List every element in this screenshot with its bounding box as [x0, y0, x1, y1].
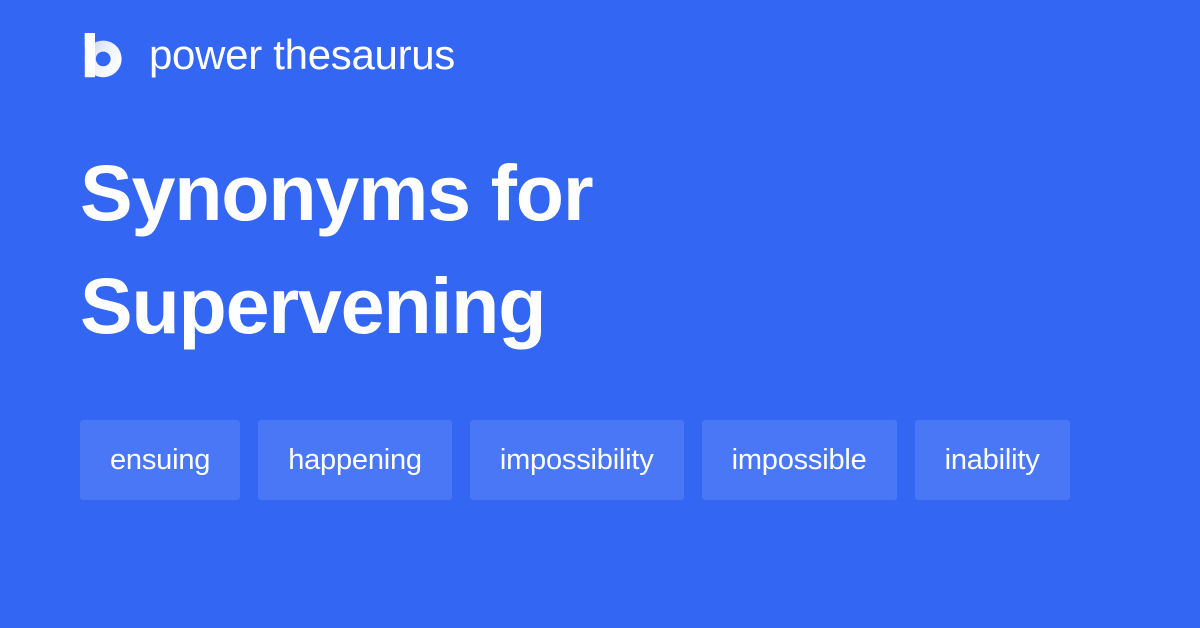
synonym-chip[interactable]: happening	[258, 420, 452, 500]
headline-line-2: Supervening	[80, 249, 1120, 362]
synonym-chip[interactable]: impossibility	[470, 420, 684, 500]
brand-name: power thesaurus	[149, 32, 455, 78]
brand-header[interactable]: power thesaurus	[80, 30, 455, 80]
synonym-chip[interactable]: ensuing	[80, 420, 240, 500]
headline-line-1: Synonyms for	[80, 136, 1120, 249]
page-title: Synonyms for Supervening	[80, 136, 1120, 362]
synonym-chip-list: ensuing happening impossibility impossib…	[80, 420, 1130, 500]
power-thesaurus-b-logo-icon	[80, 32, 126, 78]
synonym-chip[interactable]: inability	[915, 420, 1070, 500]
synonym-chip[interactable]: impossible	[702, 420, 897, 500]
share-card: power thesaurus Synonyms for Supervening…	[0, 0, 1200, 628]
